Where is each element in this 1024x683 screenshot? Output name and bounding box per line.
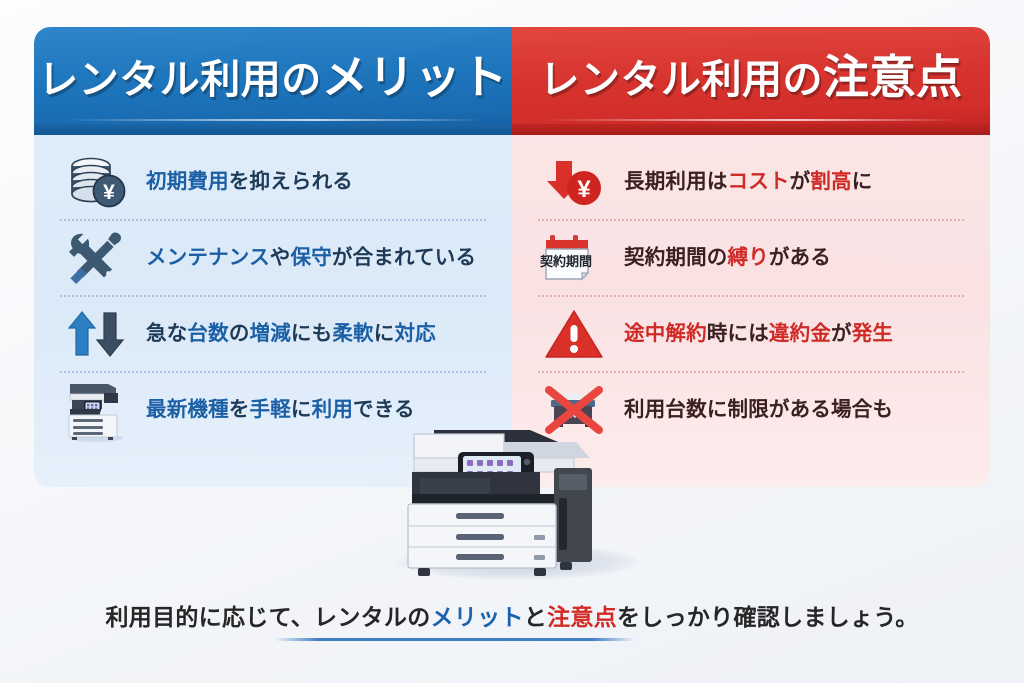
merit-item-3-plain3: にも: [291, 322, 332, 345]
caution-item-3: 途中解約時には違約金が発生: [538, 295, 964, 371]
caution-item-3-highlight2: 違約金: [769, 322, 831, 345]
merit-item-2-highlight2: 保守: [291, 246, 332, 269]
caution-header: レンタル利用の注意点: [512, 27, 990, 135]
footer-summary: 利用目的に応じて、レンタルのメリットと注意点をしっかり確認しましょう。: [0, 598, 1024, 632]
merit-item-1-plain: を抑えられる: [229, 170, 353, 193]
merit-item-3-highlight3: 柔軟: [332, 322, 373, 345]
caution-item-4-plain3: がある場合も: [769, 398, 893, 421]
merit-item-1-label: 初期費用を抑えられる: [146, 170, 353, 195]
merit-item-4-highlight3: 利用: [312, 398, 353, 421]
caution-item-3-highlight3: 発生: [852, 322, 893, 345]
footer-part1: 利用目的に応じて、レンタルの: [105, 604, 430, 630]
warning-triangle-icon: [538, 304, 610, 364]
merit-item-4-highlight2: 手軽: [250, 398, 291, 421]
caution-item-1-plain: は: [707, 170, 728, 193]
caution-item-1-plain3: に: [852, 170, 873, 193]
merit-item-2-plain: や: [270, 246, 291, 269]
merit-item-3-plain: 急な: [146, 322, 187, 345]
caution-item-4-label: 利用台数に制限がある場合も: [624, 398, 893, 423]
caution-item-2-highlight: 縛り: [728, 246, 769, 269]
footer-caution-word: 注意点: [547, 604, 617, 630]
caution-header-title-prefix: レンタル利用の: [540, 58, 824, 102]
merit-item-3-label: 急な台数の増減にも柔軟に対応: [146, 322, 436, 347]
footer-text: 利用目的に応じて、レンタルのメリットと注意点をしっかり確認しましょう。: [105, 598, 918, 632]
merit-header-title: レンタル利用のメリット: [38, 54, 508, 100]
caution-item-4-highlight: 台数: [665, 398, 706, 421]
merit-item-list: ¥ 初期費用を抑えられる: [34, 145, 512, 447]
copier-icon: [60, 380, 132, 440]
header-bottom-lip: [34, 124, 512, 135]
caution-item-2-label: 契約期間の縛りがある: [624, 246, 831, 271]
merit-item-3-highlight4: 対応: [394, 322, 435, 345]
caution-item-2-plain: 契約期間の: [624, 246, 728, 269]
calendar-contract-icon: 契約期間: [538, 228, 610, 288]
merit-item-3: 急な台数の増減にも柔軟に対応: [60, 295, 486, 371]
caution-item-3-plain: 時には: [707, 322, 769, 345]
merit-item-1-highlight: 初期費用: [146, 170, 229, 193]
infographic-canvas: レンタル利用のメリット: [0, 0, 1024, 683]
caution-item-1-highlight: 長期利用: [624, 170, 707, 193]
wrench-screwdriver-icon: [60, 228, 132, 288]
svg-text:¥: ¥: [577, 176, 591, 203]
caution-item-1-highlight2: コスト: [728, 170, 790, 193]
merit-header: レンタル利用のメリット: [34, 27, 512, 135]
caution-header-title-keyword: 注意点: [823, 51, 963, 103]
caution-item-2-plain2: がある: [769, 246, 831, 269]
merit-item-3-plain4: に: [374, 322, 395, 345]
merit-item-3-highlight2: 増減: [250, 322, 291, 345]
merit-item-3-plain2: の: [229, 322, 250, 345]
caution-item-3-plain2: が: [831, 322, 852, 345]
caution-item-1-plain2: が: [790, 170, 811, 193]
merit-header-title-keyword: メリット: [322, 51, 508, 103]
up-down-arrows-icon: [60, 304, 132, 364]
merit-item-2-highlight: メンテナンス: [146, 246, 270, 269]
footer-part3: をしっかり確認しましょう。: [617, 604, 919, 630]
header-shine: [63, 119, 484, 121]
footer-part2: と: [524, 604, 547, 630]
merit-item-4-plain: を: [229, 398, 250, 421]
merit-item-2: メンテナンスや保守が合まれている: [60, 219, 486, 295]
coins-yen-icon: ¥: [60, 152, 132, 212]
footer-underline: [275, 638, 635, 641]
caution-item-1-label: 長期利用はコストが割高に: [624, 170, 872, 195]
merit-item-1: ¥ 初期費用を抑えられる: [60, 145, 486, 219]
caution-item-4-highlight2: 制限: [728, 398, 769, 421]
down-arrow-yen-icon: ¥: [538, 152, 610, 212]
caution-item-3-highlight: 途中解約: [624, 322, 707, 345]
svg-text:¥: ¥: [103, 181, 115, 204]
merit-item-2-label: メンテナンスや保守が合まれている: [146, 246, 476, 271]
multifunction-copier-illustration: [374, 408, 656, 590]
footer-merit-word: メリット: [431, 604, 524, 630]
caution-item-list: ¥ 長期利用はコストが割高に 契約期間: [512, 145, 990, 447]
calendar-icon-label: 契約期間: [540, 254, 592, 269]
caution-item-2: 契約期間 契約期間の縛りがある: [538, 219, 964, 295]
caution-item-4-plain2: に: [707, 398, 728, 421]
caution-item-3-label: 途中解約時には違約金が発生: [624, 322, 893, 347]
merit-item-4-plain2: に: [291, 398, 312, 421]
merit-item-2-plain2: が合まれている: [332, 246, 476, 269]
caution-header-title: レンタル利用の注意点: [540, 54, 963, 100]
header-shine: [541, 119, 962, 121]
header-bottom-lip: [512, 124, 990, 135]
merit-item-4-highlight: 最新機種: [146, 398, 229, 421]
merit-header-title-prefix: レンタル利用の: [38, 58, 322, 102]
caution-item-1: ¥ 長期利用はコストが割高に: [538, 145, 964, 219]
merit-item-3-highlight: 台数: [187, 322, 228, 345]
caution-item-1-highlight3: 割高: [810, 170, 851, 193]
